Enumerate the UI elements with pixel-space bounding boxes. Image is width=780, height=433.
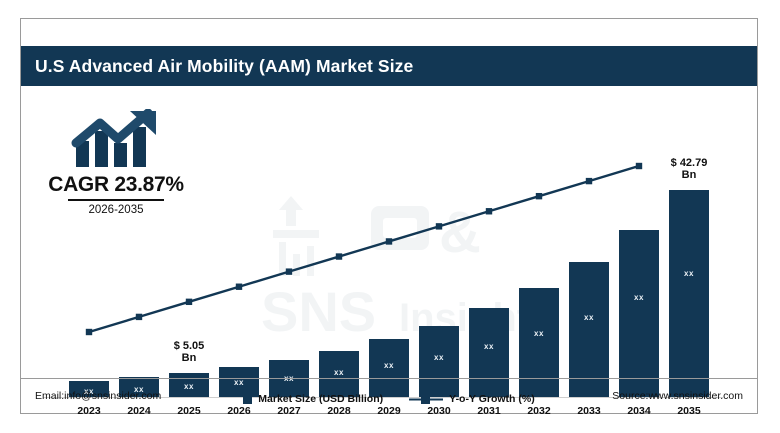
bar-value-label: xx bbox=[519, 329, 559, 338]
bar-2035[interactable] bbox=[669, 190, 709, 397]
chart-footer: Email:info@snsinsider.com Source:www.sns… bbox=[21, 378, 757, 413]
value-annotation-2035: $ 42.79Bn bbox=[655, 158, 723, 181]
bar-2033[interactable] bbox=[569, 262, 609, 397]
footer-source: Source:www.snsinsider.com bbox=[612, 390, 743, 402]
line-marker bbox=[236, 284, 242, 290]
bar-2034[interactable] bbox=[619, 230, 659, 397]
line-marker bbox=[286, 268, 292, 274]
bar-value-label: xx bbox=[369, 361, 409, 370]
line-marker bbox=[636, 163, 642, 169]
line-marker bbox=[136, 314, 142, 320]
line-marker bbox=[586, 178, 592, 184]
value-annotation-2025-line1: $ 5.05 bbox=[174, 340, 205, 352]
line-marker bbox=[386, 238, 392, 244]
footer-email: Email:info@snsinsider.com bbox=[35, 390, 161, 402]
bar-value-label: xx bbox=[319, 368, 359, 377]
bar-value-label: xx bbox=[569, 313, 609, 322]
value-annotation-2035-line2: Bn bbox=[682, 169, 697, 181]
chart-card: U.S Advanced Air Mobility (AAM) Market S… bbox=[20, 18, 758, 414]
bar-value-label: xx bbox=[619, 293, 659, 302]
line-marker bbox=[336, 253, 342, 259]
line-marker bbox=[436, 223, 442, 229]
bar-value-label: xx bbox=[419, 353, 459, 362]
chart-body: & SNS Insight CAGR 23.87% 2026-2035 xx20… bbox=[21, 86, 757, 413]
plot-area: xx2023xx2024xx2025xx2026xx2027xx2028xx20… bbox=[21, 86, 757, 413]
line-marker bbox=[186, 299, 192, 305]
chart-header: U.S Advanced Air Mobility (AAM) Market S… bbox=[21, 46, 757, 86]
line-marker bbox=[86, 329, 92, 335]
header-spacer bbox=[21, 19, 757, 46]
bar-value-label: xx bbox=[469, 342, 509, 351]
line-marker bbox=[486, 208, 492, 214]
line-marker bbox=[536, 193, 542, 199]
value-annotation-2025: $ 5.05Bn bbox=[155, 341, 223, 364]
value-annotation-2035-line1: $ 42.79 bbox=[671, 157, 708, 169]
value-annotation-2025-line2: Bn bbox=[182, 352, 197, 364]
bar-value-label: xx bbox=[669, 269, 709, 278]
page-title: U.S Advanced Air Mobility (AAM) Market S… bbox=[35, 56, 413, 77]
